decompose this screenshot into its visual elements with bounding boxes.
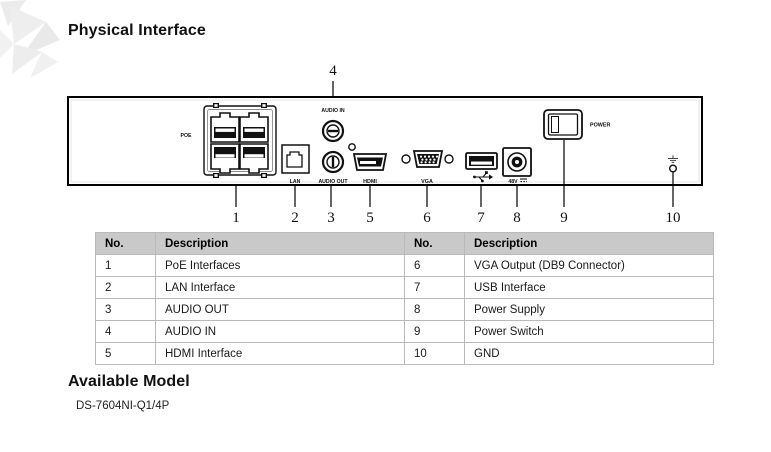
hdmi-label: HDMI bbox=[363, 179, 377, 185]
cell-no-left: 5 bbox=[96, 343, 156, 365]
callout-1-label: 1 bbox=[232, 210, 240, 226]
poe-rj45-port-1 bbox=[211, 113, 239, 142]
cell-desc-right: VGA Output (DB9 Connector) bbox=[465, 255, 714, 277]
power-label: POWER bbox=[590, 123, 610, 129]
lan-label: LAN bbox=[290, 179, 301, 185]
cell-desc-right: GND bbox=[465, 343, 714, 365]
cell-desc-left: AUDIO OUT bbox=[156, 299, 405, 321]
poe-label: POE bbox=[181, 133, 192, 139]
cell-desc-left: PoE Interfaces bbox=[156, 255, 405, 277]
cell-desc-left: AUDIO IN bbox=[156, 321, 405, 343]
callout-8-label: 8 bbox=[513, 210, 521, 226]
callout-3-label: 3 bbox=[327, 210, 335, 226]
table-header-row: No. Description No. Description bbox=[96, 233, 714, 255]
table-row: 3 AUDIO OUT 8 Power Supply bbox=[96, 299, 714, 321]
cell-no-left: 1 bbox=[96, 255, 156, 277]
table-row: 5 HDMI Interface 10 GND bbox=[96, 343, 714, 365]
table-row: 1 PoE Interfaces 6 VGA Output (DB9 Conne… bbox=[96, 255, 714, 277]
callout-10-label: 10 bbox=[666, 210, 681, 226]
dc-in-label: 48V bbox=[508, 179, 518, 185]
cell-no-right: 9 bbox=[405, 321, 465, 343]
audio-in-jack: AUDIO IN bbox=[321, 108, 345, 141]
cell-desc-right: Power Supply bbox=[465, 299, 714, 321]
available-model-heading: Available Model bbox=[68, 373, 190, 391]
callout-9-label: 9 bbox=[560, 210, 568, 226]
cell-no-left: 3 bbox=[96, 299, 156, 321]
audio-out-label: AUDIO OUT bbox=[318, 179, 348, 185]
cell-no-left: 4 bbox=[96, 321, 156, 343]
available-model-value: DS-7604NI-Q1/4P bbox=[76, 400, 169, 412]
page-title: Physical Interface bbox=[68, 22, 206, 40]
table-header-desc-right: Description bbox=[465, 233, 714, 255]
callout-7-label: 7 bbox=[477, 210, 485, 226]
vga-label: VGA bbox=[421, 179, 433, 185]
poe-rj45-port-3 bbox=[211, 144, 239, 173]
table-header-no-right: No. bbox=[405, 233, 465, 255]
callout-4: 4 bbox=[329, 63, 337, 98]
poe-rj45-port-4 bbox=[240, 144, 268, 173]
callout-2-label: 2 bbox=[291, 210, 299, 226]
audio-in-label: AUDIO IN bbox=[321, 108, 345, 114]
cell-no-right: 8 bbox=[405, 299, 465, 321]
cell-desc-left: LAN Interface bbox=[156, 277, 405, 299]
cell-no-right: 10 bbox=[405, 343, 465, 365]
cell-desc-left: HDMI Interface bbox=[156, 343, 405, 365]
callout-4-label: 4 bbox=[329, 63, 337, 79]
table-row: 4 AUDIO IN 9 Power Switch bbox=[96, 321, 714, 343]
poe-rj45-port-2 bbox=[240, 113, 268, 142]
device-rear-panel-diagram: 4 POE bbox=[0, 55, 771, 230]
cell-desc-right: USB Interface bbox=[465, 277, 714, 299]
cell-no-right: 7 bbox=[405, 277, 465, 299]
chassis-inner-outline bbox=[71, 100, 699, 182]
interface-description-table: No. Description No. Description 1 PoE In… bbox=[95, 232, 714, 365]
callout-6-label: 6 bbox=[423, 210, 431, 226]
callout-5-label: 5 bbox=[366, 210, 374, 226]
table-header-desc-left: Description bbox=[156, 233, 405, 255]
indicator-hole bbox=[349, 144, 355, 150]
cell-no-left: 2 bbox=[96, 277, 156, 299]
table-row: 2 LAN Interface 7 USB Interface bbox=[96, 277, 714, 299]
cell-desc-right: Power Switch bbox=[465, 321, 714, 343]
table-header-no-left: No. bbox=[96, 233, 156, 255]
cell-no-right: 6 bbox=[405, 255, 465, 277]
